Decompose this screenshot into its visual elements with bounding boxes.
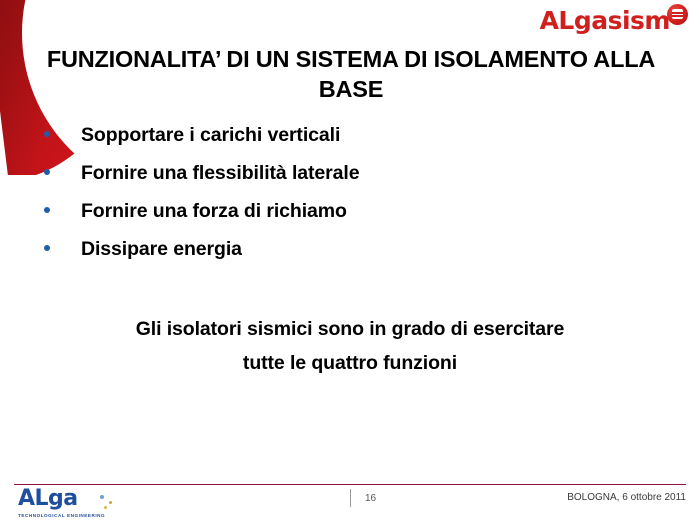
header-logo: ALgasism [540,6,688,40]
list-item: Fornire una forza di richiamo [44,200,604,238]
bullet-dot-icon [44,245,50,251]
presentation-slide: ALgasism FUNZIONALITA’ DI UN SISTEMA DI … [0,0,700,525]
footer-logo-tagline: TECHNOLOGICAL ENGINEERING [18,512,148,519]
list-item: Dissipare energia [44,238,604,276]
page-number: 16 [365,493,376,504]
list-item-label: Sopportare i carichi verticali [81,124,340,147]
footer-divider [14,484,686,485]
conclusion-text: Gli isolatori sismici sono in grado di e… [46,312,654,380]
page-number-divider [350,489,351,507]
bullet-dot-icon [44,207,50,213]
bullet-dot-icon [44,131,50,137]
list-item: Sopportare i carichi verticali [44,124,604,162]
footer-event-text: BOLOGNA, 6 ottobre 2011 [567,492,686,503]
page-title: FUNZIONALITA’ DI UN SISTEMA DI ISOLAMENT… [26,44,676,104]
footer-logo-text: ALga [18,486,78,511]
bullet-dot-icon [44,169,50,175]
conclusion-line-1: Gli isolatori sismici sono in grado di e… [46,312,654,346]
page-number-group: 16 [350,489,376,507]
list-item: Fornire una flessibilità laterale [44,162,604,200]
bullet-list: Sopportare i carichi verticali Fornire u… [44,124,604,276]
list-item-label: Dissipare energia [81,238,242,261]
seismic-bearing-icon [667,4,688,25]
list-item-label: Fornire una forza di richiamo [81,200,347,223]
list-item-label: Fornire una flessibilità laterale [81,162,359,185]
bearing-band [672,9,683,19]
footer-logo: ALga TECHNOLOGICAL ENGINEERING [18,487,148,519]
conclusion-line-2: tutte le quattro funzioni [46,346,654,380]
footer-logo-dots-icon [98,495,124,511]
header-logo-text: ALgasism [540,6,670,36]
